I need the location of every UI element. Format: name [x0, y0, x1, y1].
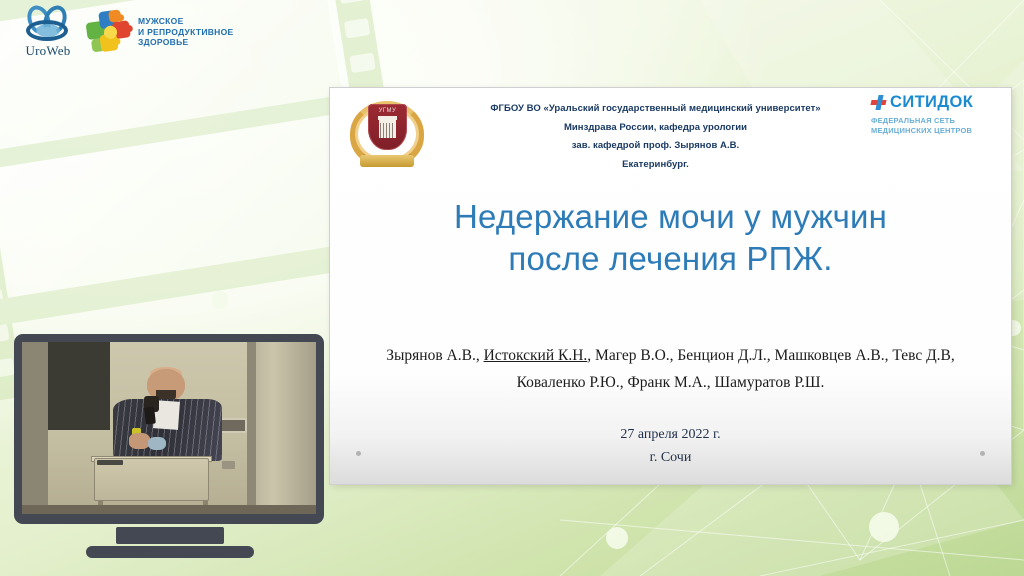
- citidoc-subtitle-line-2: МЕДИЦИНСКИХ ЦЕНТРОВ: [871, 126, 1001, 136]
- slide-decorative-dot-right: [980, 451, 985, 456]
- slide-authors: Зырянов А.В., Истокский К.Н., Магер В.О.…: [350, 342, 991, 396]
- ugmu-crest-icon: УГМУ: [342, 93, 432, 175]
- slide-header-line-2: Минздрава России, кафедра урологии: [440, 119, 871, 138]
- slide-header-line-1: ФГБОУ ВО «Уральский государственный меди…: [440, 100, 871, 119]
- uroweb-logo[interactable]: UroWeb: [14, 6, 82, 60]
- slide-title-line-2: после лечения РПЖ.: [370, 238, 971, 280]
- authors-line-1: Зырянов А.В., Истокский К.Н., Магер В.О.…: [350, 342, 991, 369]
- uroweb-mark-icon: [14, 6, 82, 42]
- slide-decorative-dot-left: [356, 451, 361, 456]
- authors-line-2: Коваленко Р.Ю., Франк М.А., Шамуратов Р.…: [350, 369, 991, 396]
- citidoc-logo: СИТИДОК ФЕДЕРАЛЬНАЯ СЕТЬ МЕДИЦИНСКИХ ЦЕН…: [871, 94, 1001, 136]
- presenter-video-feed[interactable]: [22, 342, 316, 514]
- slide-title: Недержание мочи у мужчин после лечения Р…: [370, 196, 971, 279]
- citidoc-subtitle-line-1: ФЕДЕРАЛЬНАЯ СЕТЬ: [871, 116, 1001, 126]
- mrz-line-1: МУЖСКОЕ: [138, 16, 233, 27]
- authors-line-1-post: , Магер В.О., Бенцион Д.Л., Машковцев А.…: [587, 347, 954, 364]
- wall-panel-icon: [220, 418, 246, 433]
- slide-header-line-4: Екатеринбург.: [440, 156, 871, 175]
- slide-header-line-3: зав. кафедрой проф. Зырянов А.В.: [440, 137, 871, 156]
- medical-cross-icon: [871, 95, 886, 110]
- slide-header-text: ФГБОУ ВО «Уральский государственный меди…: [440, 100, 871, 174]
- monitor-bezel: [14, 334, 324, 524]
- mrz-line-2: И РЕПРОДУКТИВНОЕ: [138, 27, 233, 38]
- mrz-logo[interactable]: МУЖСКОЕ И РЕПРОДУКТИВНОЕ ЗДОРОВЬЕ: [86, 8, 233, 56]
- authors-line-1-pre: Зырянов А.В.,: [386, 347, 483, 364]
- uroweb-wordmark: UroWeb: [14, 43, 82, 59]
- slide-header: УГМУ ФГБОУ ВО «Уральский государственный…: [330, 88, 1011, 184]
- mrz-line-3: ЗДОРОВЬЕ: [138, 37, 233, 48]
- monitor-stand-base: [86, 546, 254, 558]
- slide-date-city: 27 апреля 2022 г. г. Сочи: [350, 424, 991, 469]
- presenter-video-monitor[interactable]: [14, 334, 324, 574]
- presenting-author: Истокский К.Н.: [484, 347, 588, 364]
- slide-city: г. Сочи: [350, 447, 991, 470]
- slide-date: 27 апреля 2022 г.: [350, 424, 991, 447]
- presentation-slide[interactable]: УГМУ ФГБОУ ВО «Уральский государственный…: [330, 88, 1011, 484]
- mrz-wordmark: МУЖСКОЕ И РЕПРОДУКТИВНОЕ ЗДОРОВЬЕ: [138, 16, 233, 49]
- slide-title-line-1: Недержание мочи у мужчин: [370, 196, 971, 238]
- ugmu-abbr: УГМУ: [368, 108, 407, 114]
- monitor-stand-neck: [116, 527, 224, 544]
- citidoc-subtitle: ФЕДЕРАЛЬНАЯ СЕТЬ МЕДИЦИНСКИХ ЦЕНТРОВ: [871, 116, 1001, 136]
- citidoc-brand: СИТИДОК: [890, 94, 973, 111]
- puzzle-icon: [83, 6, 135, 58]
